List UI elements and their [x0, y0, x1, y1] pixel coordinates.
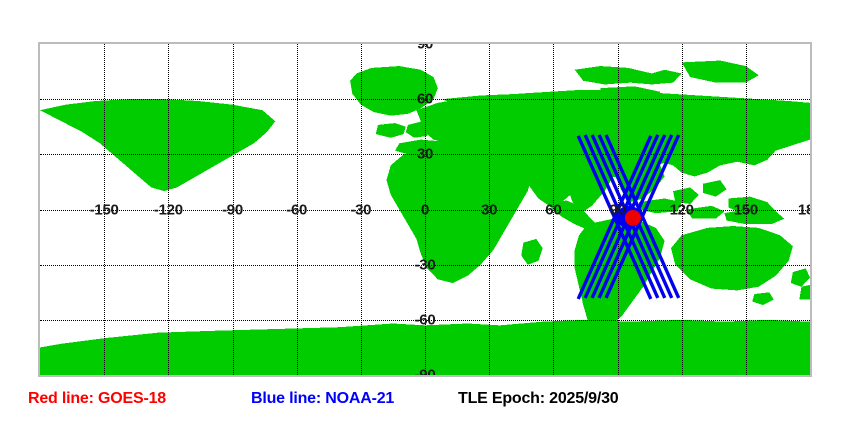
legend-goes18: Red line: GOES-18	[28, 390, 166, 408]
map-legend: Red line: GOES-18 Blue line: NOAA-21 TLE…	[0, 390, 850, 420]
legend-noaa21: Blue line: NOAA-21	[251, 390, 394, 408]
legend-tle-epoch: TLE Epoch: 2025/9/30	[458, 390, 619, 408]
satellite-ground-tracks-layer	[40, 44, 810, 375]
satellite-track-map: -300306090120150180-150-120-90-60906030-…	[0, 0, 850, 425]
goes18-position-marker	[625, 210, 641, 226]
world-map-plot: -300306090120150180-150-120-90-60906030-…	[38, 42, 812, 377]
